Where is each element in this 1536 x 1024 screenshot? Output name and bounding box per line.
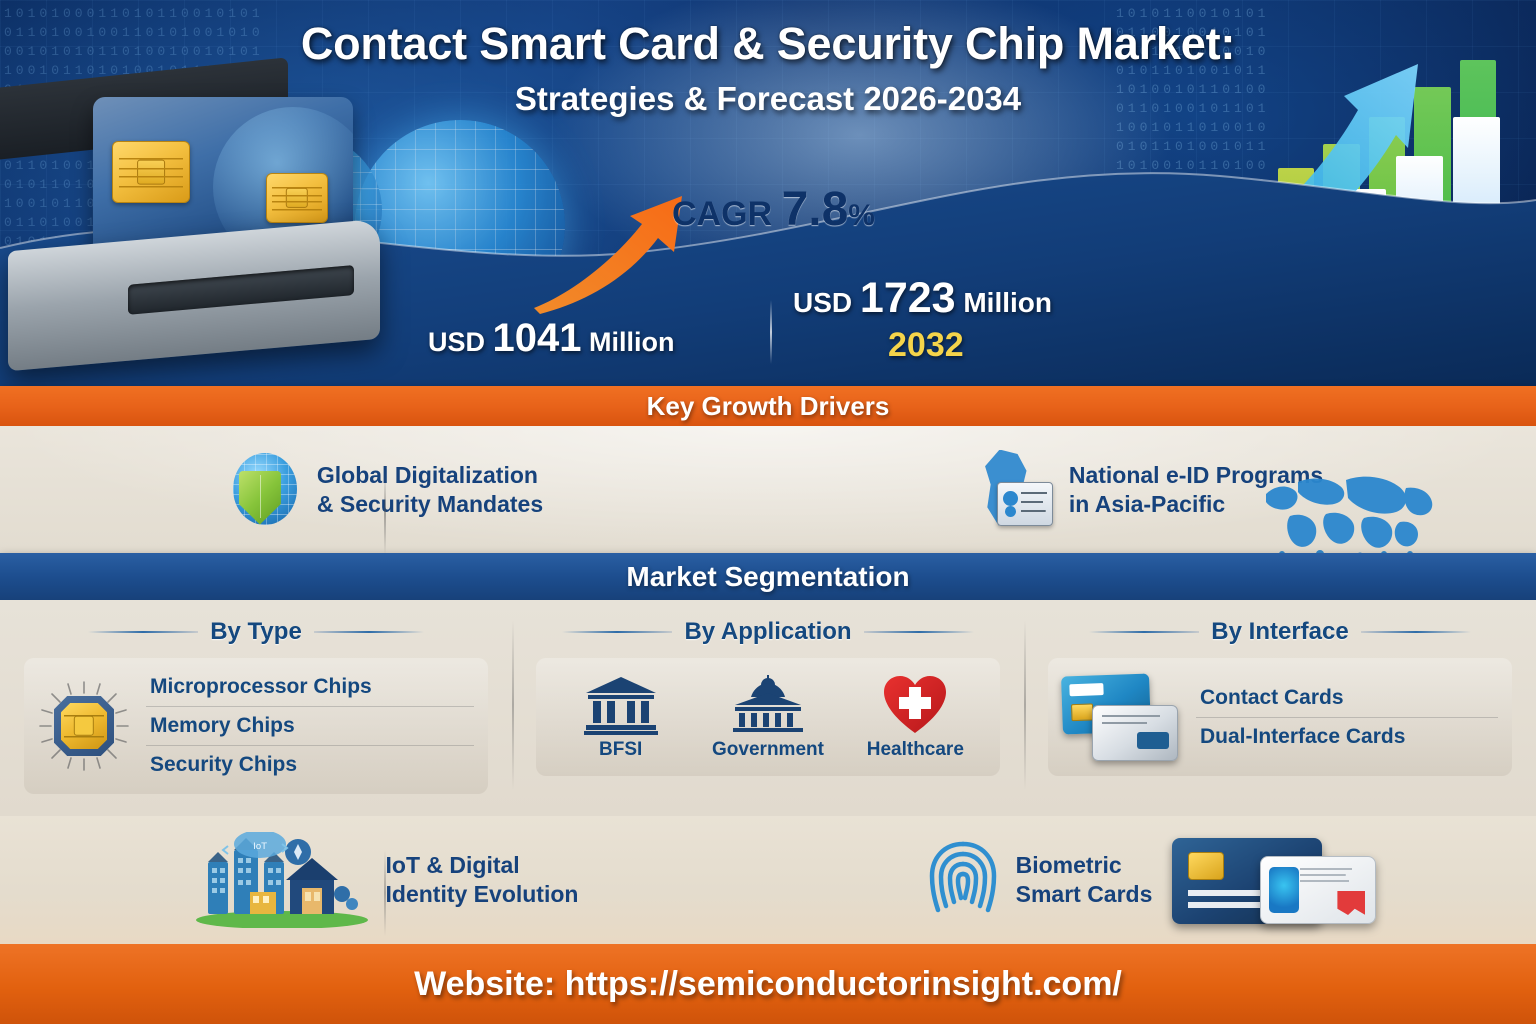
segment-title: By Type <box>210 618 302 646</box>
page-title: Contact Smart Card & Security Chip Marke… <box>0 18 1536 70</box>
trend-label: IoT & Digital Identity Evolution <box>386 851 579 909</box>
list-item[interactable]: Microprocessor Chips <box>146 668 474 707</box>
list-item[interactable]: Contact Cards <box>1196 679 1498 718</box>
market-segmentation-title: Market Segmentation <box>626 561 909 593</box>
segment-body: BFSI <box>536 658 1000 776</box>
reader-slot <box>128 265 354 315</box>
reader-body <box>8 219 380 372</box>
market-segmentation-band: Market Segmentation <box>0 553 1536 600</box>
header-rule-right <box>314 631 424 633</box>
application-label: Healthcare <box>867 739 964 761</box>
forecast-unit: Million <box>963 287 1052 318</box>
segment-body: Contact Cards Dual-Interface Cards <box>1048 658 1512 776</box>
segment-by-application: By Application <box>512 600 1024 816</box>
segment-by-interface: By Interface Contact Cards Dual-Interfac… <box>1024 600 1536 816</box>
driver-label: Global Digitalization & Security Mandate… <box>317 461 543 519</box>
base-currency: USD <box>428 327 485 357</box>
key-growth-drivers-title: Key Growth Drivers <box>647 391 890 422</box>
trend-label: Biometric Smart Cards <box>1016 851 1153 909</box>
card-chip-secondary-icon <box>266 173 328 223</box>
segment-title: By Application <box>684 618 851 646</box>
base-unit: Million <box>589 327 674 357</box>
segment-body: Microprocessor Chips Memory Chips Securi… <box>24 658 488 794</box>
website-link[interactable]: Website: https://semiconductorinsight.co… <box>414 965 1122 1004</box>
biometric-cards-icon <box>1168 832 1378 928</box>
cagr-label: CAGR <box>672 195 772 233</box>
list-item[interactable]: Dual-Interface Cards <box>1196 718 1498 756</box>
base-value: 1041 <box>493 316 582 360</box>
segment-title: By Interface <box>1211 618 1348 646</box>
segment-item-list: Contact Cards Dual-Interface Cards <box>1196 679 1498 756</box>
smart-card-reader-illustration <box>8 95 398 370</box>
header-rule-right <box>1361 631 1471 633</box>
cagr-value: 7.8 <box>782 183 849 236</box>
driver-line-1: Global Digitalization <box>317 461 543 490</box>
header-rule-left <box>562 631 672 633</box>
header-rule-right <box>864 631 974 633</box>
driver-item-global-digitalization: Global Digitalization & Security Mandate… <box>0 451 768 529</box>
application-label: BFSI <box>599 739 642 761</box>
cagr-arrow-icon <box>530 190 690 315</box>
card-chip-icon <box>112 141 190 203</box>
trend-item-iot-digital-identity: IoT IoT & Digital Identity Evolution <box>0 832 768 928</box>
trends-section: IoT IoT & Digital Identity Evolution <box>0 816 1536 944</box>
world-map-icon <box>1260 464 1440 562</box>
trend-line-2: Smart Cards <box>1016 880 1153 909</box>
market-segmentation-section: By Type <box>0 600 1536 816</box>
segment-header: By Application <box>536 618 1000 646</box>
header-rule-left <box>88 631 198 633</box>
driver-divider <box>384 473 386 555</box>
driver-item-national-eid: National e-ID Programs in Asia-Pacific <box>768 450 1536 530</box>
application-label: Government <box>712 739 824 761</box>
key-growth-drivers-band: Key Growth Drivers <box>0 386 1536 426</box>
forecast-value-row: USD 1723 Million <box>793 274 1052 323</box>
base-year-value: USD 1041 Million <box>428 316 675 361</box>
segment-by-type: By Type <box>0 600 512 816</box>
eid-card-icon <box>981 450 1055 530</box>
smart-chip-icon <box>38 680 130 772</box>
dual-cards-icon <box>1062 671 1180 763</box>
svg-text:IoT: IoT <box>253 842 267 852</box>
application-government[interactable]: Government <box>697 675 838 761</box>
cagr-unit: % <box>848 199 875 232</box>
application-healthcare[interactable]: Healthcare <box>845 673 986 761</box>
list-item[interactable]: Security Chips <box>146 746 474 784</box>
forecast-currency: USD <box>793 287 852 318</box>
trend-divider <box>384 850 386 936</box>
page-subtitle: Strategies & Forecast 2026-2034 <box>0 80 1536 118</box>
globe-shield-icon <box>225 451 303 529</box>
application-bfsi[interactable]: BFSI <box>550 675 691 761</box>
value-divider <box>770 300 772 364</box>
trend-line-2: Identity Evolution <box>386 880 579 909</box>
infographic-page: 1010100011010110010101 01101001001101010… <box>0 0 1536 1024</box>
trend-line-1: IoT & Digital <box>386 851 579 880</box>
segment-header: By Interface <box>1048 618 1512 646</box>
header-rule-left <box>1089 631 1199 633</box>
key-growth-drivers-section: Global Digitalization & Security Mandate… <box>0 426 1536 553</box>
smart-city-icon: IoT <box>190 832 370 928</box>
capitol-icon <box>731 675 805 735</box>
segment-item-list: Microprocessor Chips Memory Chips Securi… <box>146 668 474 784</box>
driver-line-2: & Security Mandates <box>317 490 543 519</box>
bank-icon <box>584 675 658 735</box>
fingerprint-icon <box>926 836 1000 924</box>
forecast-year: 2032 <box>888 326 964 365</box>
segment-header: By Type <box>24 618 488 646</box>
footer-bar: Website: https://semiconductorinsight.co… <box>0 944 1536 1024</box>
forecast-value: 1723 <box>860 274 956 322</box>
hero-section: 1010100011010110010101 01101001001101010… <box>0 0 1536 386</box>
cagr-stat: CAGR 7.8% <box>672 182 875 237</box>
heart-cross-icon <box>882 673 948 735</box>
trend-line-1: Biometric <box>1016 851 1153 880</box>
list-item[interactable]: Memory Chips <box>146 707 474 746</box>
application-icon-row: BFSI <box>550 673 986 761</box>
trend-item-biometric-smart-cards: Biometric Smart Cards <box>768 832 1536 928</box>
